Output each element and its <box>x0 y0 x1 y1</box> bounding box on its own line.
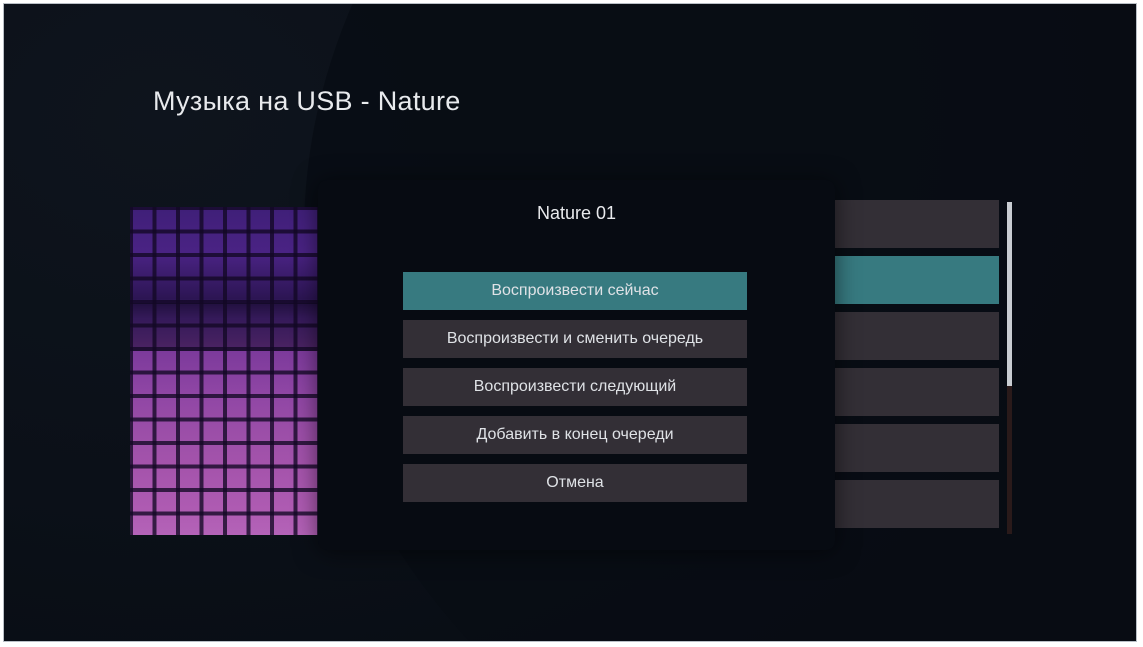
play-and-replace-queue-button[interactable]: Воспроизвести и сменить очередь <box>403 320 747 358</box>
play-next-label: Воспроизвести следующий <box>474 379 677 395</box>
play-next-button[interactable]: Воспроизвести следующий <box>403 368 747 406</box>
tv-screen-frame: Музыка на USB - Nature Nature 01 <box>3 3 1137 642</box>
add-to-queue-end-button[interactable]: Добавить в конец очереди <box>403 416 747 454</box>
track-list-scrollbar[interactable] <box>1007 202 1012 534</box>
dialog-action-list: Воспроизвести сейчас Воспроизвести и сме… <box>403 272 747 512</box>
track-list-scrollbar-thumb[interactable] <box>1007 202 1012 386</box>
add-to-queue-end-label: Добавить в конец очереди <box>476 427 673 443</box>
cancel-button[interactable]: Отмена <box>403 464 747 502</box>
album-art-grid-overlay <box>130 207 318 535</box>
album-art <box>130 207 318 535</box>
context-menu-dialog: Nature 01 Воспроизвести сейчас Воспроизв… <box>318 180 835 550</box>
cancel-label: Отмена <box>546 475 603 491</box>
dialog-title: Nature 01 <box>318 203 835 224</box>
play-now-label: Воспроизвести сейчас <box>491 283 658 299</box>
play-now-button[interactable]: Воспроизвести сейчас <box>403 272 747 310</box>
play-and-replace-queue-label: Воспроизвести и сменить очередь <box>447 331 703 347</box>
page-title: Музыка на USB - Nature <box>153 86 461 117</box>
